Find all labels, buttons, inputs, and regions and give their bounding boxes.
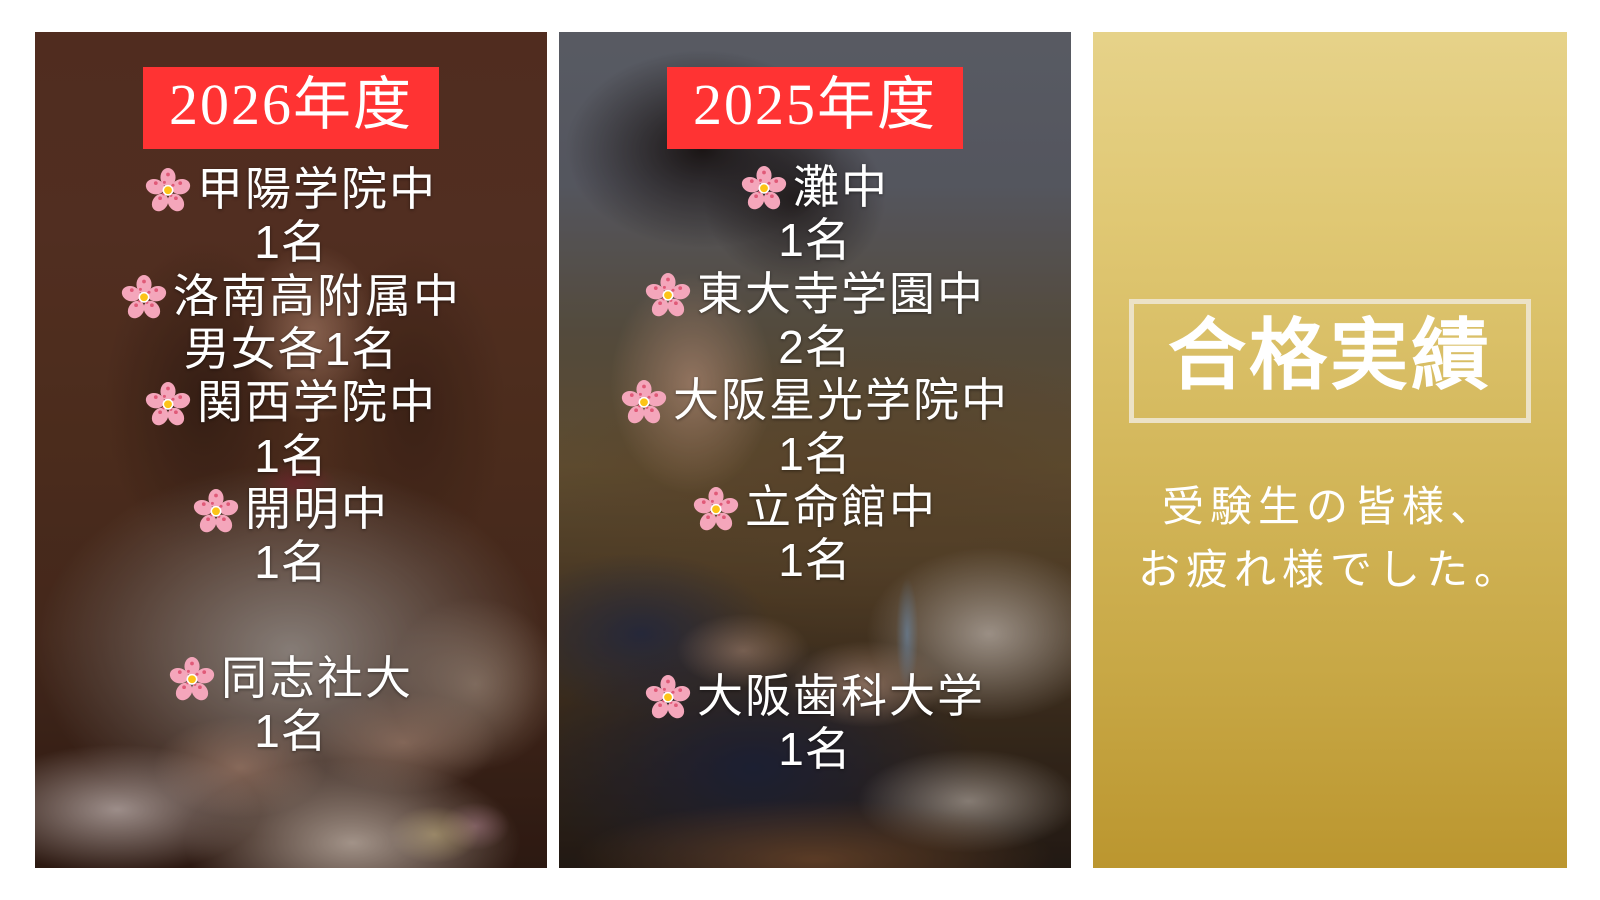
school-line: 灘中 bbox=[559, 161, 1071, 214]
sakura-icon bbox=[193, 489, 239, 535]
school-name: 開明中 bbox=[245, 483, 389, 536]
school-name: 立命館中 bbox=[745, 481, 937, 534]
sakura-icon bbox=[645, 273, 691, 319]
sakura-icon bbox=[741, 166, 787, 212]
school-line: 立命館中 bbox=[559, 481, 1071, 534]
school-line: 開明中 bbox=[35, 483, 547, 536]
results-list-2025-top: 灘中 1名 bbox=[559, 161, 1071, 588]
school-name: 甲陽学院中 bbox=[197, 163, 437, 216]
sakura-icon bbox=[693, 487, 739, 533]
school-count: 1名 bbox=[35, 536, 547, 589]
result-item: 大阪星光学院中 1名 bbox=[559, 374, 1071, 481]
school-name: 灘中 bbox=[793, 161, 889, 214]
school-count: 1名 bbox=[559, 534, 1071, 587]
school-name: 東大寺学園中 bbox=[697, 268, 985, 321]
school-line: 大阪星光学院中 bbox=[559, 374, 1071, 427]
gold-message: 受験生の皆様、 お疲れ様でした。 bbox=[1138, 475, 1522, 601]
school-line: 甲陽学院中 bbox=[35, 163, 547, 216]
school-line: 関西学院中 bbox=[35, 376, 547, 429]
result-item: 洛南高附属中 男女各1名 bbox=[35, 270, 547, 377]
school-count: 男女各1名 bbox=[35, 323, 547, 376]
page-title: 合格実績 bbox=[1168, 316, 1492, 398]
panel-gold-summary: 合格実績 受験生の皆様、 お疲れ様でした。 bbox=[1093, 32, 1567, 868]
school-count: 1名 bbox=[559, 428, 1071, 481]
result-item: 立命館中 1名 bbox=[559, 481, 1071, 588]
result-item: 関西学院中 1名 bbox=[35, 376, 547, 483]
school-name: 同志社大 bbox=[221, 652, 413, 705]
gold-message-line-1: 受験生の皆様、 bbox=[1138, 475, 1522, 538]
result-item: 灘中 1名 bbox=[559, 161, 1071, 268]
gold-title-frame: 合格実績 bbox=[1129, 299, 1531, 423]
panel-2026-content: 2026年度 bbox=[35, 32, 547, 868]
school-line: 同志社大 bbox=[35, 652, 547, 705]
school-name: 大阪歯科大学 bbox=[697, 670, 985, 723]
school-count: 1名 bbox=[559, 723, 1071, 776]
sakura-icon bbox=[645, 675, 691, 721]
result-item: 同志社大 1名 bbox=[35, 652, 547, 759]
school-count: 1名 bbox=[559, 214, 1071, 267]
result-item: 開明中 1名 bbox=[35, 483, 547, 590]
results-list-2026-top: 甲陽学院中 1名 bbox=[35, 163, 547, 590]
sakura-icon bbox=[145, 382, 191, 428]
school-count: 1名 bbox=[35, 216, 547, 269]
gold-panel-content: 合格実績 受験生の皆様、 お疲れ様でした。 bbox=[1093, 32, 1567, 868]
result-item: 大阪歯科大学 1名 bbox=[559, 670, 1071, 777]
sakura-icon bbox=[121, 275, 167, 321]
school-line: 東大寺学園中 bbox=[559, 268, 1071, 321]
results-list-2026-bottom: 同志社大 1名 bbox=[35, 652, 547, 759]
sakura-icon bbox=[621, 380, 667, 426]
results-list-2025-bottom: 大阪歯科大学 1名 bbox=[559, 670, 1071, 777]
school-name: 洛南高附属中 bbox=[173, 270, 461, 323]
gold-message-line-2: お疲れ様でした。 bbox=[1138, 538, 1522, 601]
school-count: 2名 bbox=[559, 321, 1071, 374]
panel-2026: 2026年度 bbox=[35, 32, 547, 868]
year-badge-2025: 2025年度 bbox=[667, 67, 963, 149]
result-item: 甲陽学院中 1名 bbox=[35, 163, 547, 270]
result-item: 東大寺学園中 2名 bbox=[559, 268, 1071, 375]
school-count: 1名 bbox=[35, 705, 547, 758]
panel-2025: 2025年度 bbox=[559, 32, 1071, 868]
panel-2025-content: 2025年度 bbox=[559, 32, 1071, 868]
school-line: 洛南高附属中 bbox=[35, 270, 547, 323]
sakura-icon bbox=[169, 657, 215, 703]
results-poster: 2026年度 bbox=[0, 0, 1600, 900]
year-badge-2026: 2026年度 bbox=[143, 67, 439, 149]
school-line: 大阪歯科大学 bbox=[559, 670, 1071, 723]
school-name: 関西学院中 bbox=[197, 376, 437, 429]
sakura-icon bbox=[145, 168, 191, 214]
school-count: 1名 bbox=[35, 430, 547, 483]
school-name: 大阪星光学院中 bbox=[673, 374, 1009, 427]
